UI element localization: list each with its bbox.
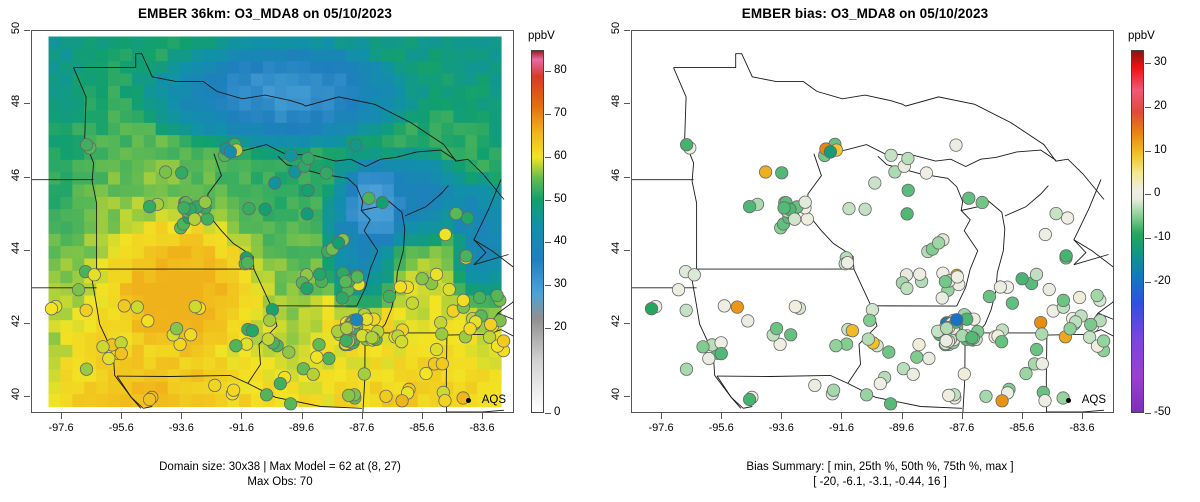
raster-cell [358,123,371,136]
raster-cell [84,123,97,136]
y-tick [624,323,630,324]
y-tick-label: 40 [10,381,22,407]
aqs-site-marker [911,351,923,363]
aqs-site-marker [72,284,84,296]
raster-cell [334,197,347,210]
raster-cell [60,197,73,210]
raster-cell [287,222,300,235]
colorbar-tick-label: 80 [554,64,567,76]
raster-cell [49,259,62,272]
raster-cell [394,172,407,185]
raster-cell [275,283,288,296]
raster-cell [72,382,85,395]
raster-cell [263,271,276,284]
raster-cell [477,148,490,161]
x-tick-label: -83.6 [462,422,502,434]
raster-cell [358,234,371,247]
aqs-site-marker [1020,367,1032,379]
bias-caption-line1: Bias Summary: [ min, 25th %, 50th %, 75t… [600,460,1160,475]
raster-cell [239,271,252,284]
raster-cell [489,234,502,247]
raster-cell [477,123,490,136]
x-tick [902,413,903,419]
aqs-site-marker [1039,395,1051,407]
raster-cell [191,283,204,296]
raster-cell [453,74,466,87]
raster-cell [191,345,204,358]
raster-cell [287,111,300,124]
raster-cell [84,37,97,50]
aqs-site-marker [996,395,1008,407]
raster-cell [215,296,228,309]
raster-cell [84,345,97,358]
raster-cell [227,123,240,136]
raster-cell [477,357,490,370]
bias-colorbar-units: ppbV [1128,30,1155,42]
raster-cell [156,135,169,148]
raster-cell [406,345,419,358]
raster-cell [49,123,62,136]
raster-cell [96,98,109,111]
raster-cell [465,370,478,383]
raster-cell [287,86,300,99]
aqs-site-marker [302,184,314,196]
x-tick-label: -87.6 [342,422,382,434]
raster-cell [144,172,157,185]
raster-cell [418,160,431,173]
raster-cell [96,37,109,50]
raster-cell [49,37,62,50]
aqs-site-marker [159,166,171,178]
raster-cell [299,123,312,136]
raster-cell [60,37,73,50]
raster-cell [394,160,407,173]
raster-cell [334,135,347,148]
x-tick-label: -91.6 [821,422,861,434]
aqs-site-marker [224,146,236,158]
aqs-site-marker [869,177,881,189]
raster-cell [287,296,300,309]
raster-cell [477,74,490,87]
raster-cell [49,382,62,395]
raster-cell [191,160,204,173]
raster-cell [144,185,157,198]
aqs-site-marker [860,389,872,401]
raster-cell [275,111,288,124]
raster-cell [251,111,264,124]
raster-cell [49,135,62,148]
raster-cell [310,123,323,136]
aqs-site-marker [907,368,919,380]
aqs-site-marker [789,300,801,312]
raster-cell [406,197,419,210]
raster-cell [156,49,169,62]
raster-cell [489,271,502,284]
aqs-site-marker [980,390,992,402]
aqs-site-marker [939,275,951,287]
raster-cell [275,197,288,210]
raster-cell [144,74,157,87]
raster-cell [191,246,204,259]
raster-cell [477,98,490,111]
x-tick-label: -97.6 [41,422,81,434]
raster-cell [430,111,443,124]
aqs-site-marker [323,352,335,364]
aqs-site-marker [264,314,276,326]
raster-cell [49,271,62,284]
aqs-site-marker [383,290,395,302]
raster-cell [370,283,383,296]
raster-cell [477,370,490,383]
raster-cell [263,222,276,235]
raster-cell [49,197,62,210]
raster-cell [453,345,466,358]
aqs-site-marker [799,196,811,208]
raster-cell [168,308,181,321]
raster-cell [203,37,216,50]
raster-cell [49,160,62,173]
raster-cell [310,234,323,247]
raster-cell [96,160,109,173]
colorbar-tick-label: 40 [554,235,567,247]
aqs-site-marker [416,273,428,285]
raster-cell [84,172,97,185]
aqs-site-marker [827,384,839,396]
raster-cell [108,222,121,235]
raster-cell [203,283,216,296]
aqs-site-marker [439,228,451,240]
aqs-site-marker [340,335,352,347]
raster-cell [310,135,323,148]
raster-cell [465,86,478,99]
raster-cell [370,209,383,222]
raster-cell [156,61,169,74]
raster-cell [132,382,145,395]
raster-cell [358,37,371,50]
raster-cell [180,271,193,284]
raster-cell [489,49,502,62]
raster-cell [441,370,454,383]
raster-cell [227,370,240,383]
raster-cell [239,123,252,136]
raster-cell [156,148,169,161]
raster-cell [406,172,419,185]
raster-cell [227,271,240,284]
raster-cell [299,49,312,62]
raster-cell [465,61,478,74]
raster-cell [49,111,62,124]
raster-cell [441,111,454,124]
raster-cell [430,86,443,99]
raster-cell [49,148,62,161]
raster-cell [441,172,454,185]
raster-cell [239,185,252,198]
colorbar-tick-label: 0 [1154,187,1160,199]
raster-cell [227,197,240,210]
aqs-site-marker [902,184,914,196]
aqs-site-marker [80,304,92,316]
raster-cell [168,86,181,99]
raster-cell [108,160,121,173]
raster-cell [370,61,383,74]
raster-cell [322,185,335,198]
raster-cell [191,86,204,99]
raster-cell [60,283,73,296]
aqs-site-marker [936,292,948,304]
raster-cell [453,86,466,99]
raster-cell [120,283,133,296]
raster-cell [203,394,216,407]
colorbar-tick-label: -20 [1154,275,1171,287]
aqs-site-marker [497,335,509,347]
raster-cell [60,160,73,173]
raster-cell [96,148,109,161]
raster-cell [441,197,454,210]
raster-cell [60,370,73,383]
raster-cell [84,209,97,222]
raster-cell [299,308,312,321]
raster-cell [465,98,478,111]
raster-cell [239,49,252,62]
aqs-site-marker [142,315,154,327]
aqs-site-marker [874,377,886,389]
raster-cell [84,74,97,87]
raster-cell [168,185,181,198]
aqs-site-marker [262,333,274,345]
raster-cell [251,61,264,74]
raster-cell [465,197,478,210]
raster-cell [84,160,97,173]
raster-cell [168,394,181,407]
raster-cell [203,135,216,148]
aqs-site-marker [406,297,418,309]
aqs-site-marker [188,213,200,225]
y-tick [624,177,630,178]
aqs-site-marker [343,389,355,401]
raster-cell [180,123,193,136]
raster-cell [144,222,157,235]
raster-cell [310,320,323,333]
raster-cell [215,222,228,235]
x-tick-label: -85.6 [1002,422,1042,434]
raster-cell [263,246,276,259]
raster-cell [441,246,454,259]
raster-cell [418,394,431,407]
y-tick [24,396,30,397]
raster-cell [108,86,121,99]
raster-cell [132,345,145,358]
x-tick-label: -87.6 [942,422,982,434]
raster-cell [299,86,312,99]
raster-cell [60,98,73,111]
bias-aqs-legend-label: AQS [1082,394,1106,406]
aqs-site-marker [314,268,326,280]
raster-cell [60,271,73,284]
aqs-site-marker [283,346,295,358]
raster-cell [60,333,73,346]
y-tick-label: 46 [610,162,622,188]
raster-cell [465,148,478,161]
aqs-site-marker [464,323,476,335]
raster-cell [430,185,443,198]
raster-cell [465,357,478,370]
raster-cell [120,111,133,124]
model-map-canvas [32,31,513,412]
raster-cell [96,123,109,136]
raster-cell [370,37,383,50]
raster-cell [108,49,121,62]
aqs-site-marker [302,152,314,164]
raster-cell [49,61,62,74]
raster-cell [251,271,264,284]
raster-cell [489,123,502,136]
raster-cell [489,382,502,395]
aqs-site-marker [436,328,448,340]
raster-cell [406,49,419,62]
raster-cell [287,246,300,259]
raster-cell [239,111,252,124]
raster-cell [299,222,312,235]
colorbar-tick-label: 0 [554,406,560,418]
raster-cell [132,37,145,50]
raster-cell [430,148,443,161]
raster-cell [477,222,490,235]
aqs-site-marker [320,167,332,179]
raster-cell [60,320,73,333]
raster-cell [406,246,419,259]
x-tick [1082,413,1083,419]
raster-cell [453,370,466,383]
raster-cell [310,296,323,309]
raster-cell [418,259,431,272]
raster-cell [430,74,443,87]
raster-cell [108,320,121,333]
x-tick-label: -89.6 [282,422,322,434]
x-tick-label: -91.6 [221,422,261,434]
aqs-site-marker [941,322,953,334]
raster-cell [156,320,169,333]
raster-cell [358,86,371,99]
aqs-site-marker [963,192,975,204]
raster-cell [382,271,395,284]
raster-cell [334,111,347,124]
aqs-site-marker [143,393,155,405]
aqs-site-marker [958,368,970,380]
raster-cell [239,160,252,173]
raster-cell [418,333,431,346]
raster-cell [382,49,395,62]
raster-cell [299,345,312,358]
raster-cell [191,135,204,148]
colorbar-tick [1145,238,1151,239]
aqs-site-marker [883,346,895,358]
raster-cell [120,320,133,333]
raster-cell [334,74,347,87]
raster-cell [132,283,145,296]
aqs-site-marker [1073,291,1085,303]
raster-cell [96,135,109,148]
raster-cell [430,49,443,62]
raster-cell [168,271,181,284]
aqs-site-marker [209,379,221,391]
raster-cell [430,98,443,111]
raster-cell [132,246,145,259]
raster-cell [96,394,109,407]
raster-cell [453,61,466,74]
raster-cell [156,86,169,99]
raster-cell [49,320,62,333]
raster-cell [227,86,240,99]
raster-cell [156,185,169,198]
raster-cell [215,209,228,222]
aqs-site-marker [336,292,348,304]
colorbar-tick [545,328,551,329]
raster-cell [370,148,383,161]
y-tick [24,250,30,251]
raster-cell [191,49,204,62]
aqs-site-marker [230,340,242,352]
model-caption-line1: Domain size: 30x38 | Max Model = 62 at (… [0,460,560,475]
bias-colorbar [1131,50,1144,413]
raster-cell [84,49,97,62]
raster-cell [96,382,109,395]
model-colorbar [531,50,544,413]
aqs-site-marker [461,212,473,224]
raster-cell [84,197,97,210]
raster-cell [227,185,240,198]
raster-cell [120,74,133,87]
x-tick [721,413,722,419]
aqs-site-marker [1039,228,1051,240]
raster-cell [394,98,407,111]
raster-cell [191,382,204,395]
raster-cell [394,86,407,99]
aqs-site-marker [313,338,325,350]
raster-cell [72,86,85,99]
y-tick-label: 44 [610,235,622,261]
raster-cell [453,160,466,173]
colorbar-tick [1145,413,1151,414]
raster-cell [275,222,288,235]
raster-cell [191,234,204,247]
aqs-site-marker [80,139,92,151]
aqs-site-marker [380,390,392,402]
aqs-site-marker [351,271,363,283]
x-tick-label: -95.6 [701,422,741,434]
raster-cell [394,148,407,161]
raster-cell [489,370,502,383]
raster-cell [72,394,85,407]
raster-cell [299,98,312,111]
raster-cell [394,74,407,87]
aqs-site-marker [1030,343,1042,355]
raster-cell [251,160,264,173]
raster-cell [382,345,395,358]
raster-cell [382,185,395,198]
raster-cell [72,185,85,198]
raster-cell [84,394,97,407]
raster-cell [191,111,204,124]
raster-cell [132,209,145,222]
raster-cell [310,246,323,259]
colorbar-tick [545,200,551,201]
raster-cell [72,320,85,333]
raster-cell [49,370,62,383]
raster-cell [406,185,419,198]
raster-cell [132,135,145,148]
raster-cell [156,296,169,309]
raster-cell [60,148,73,161]
